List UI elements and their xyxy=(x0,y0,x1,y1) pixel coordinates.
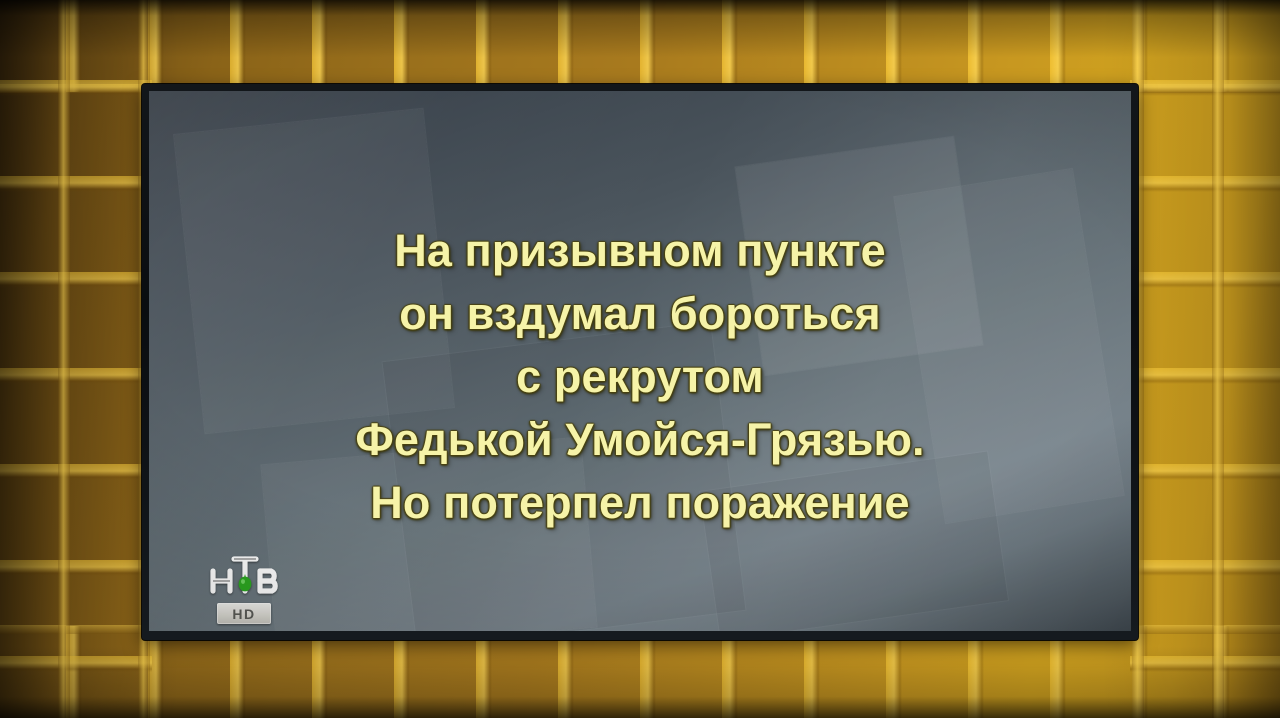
screenshot-root: На призывном пункте он вздумал бороться … xyxy=(0,0,1280,718)
glass-reflection-pane-6 xyxy=(261,437,596,631)
glass-reflection-pane-5 xyxy=(700,452,1008,631)
ntv-logo-icon xyxy=(203,551,287,607)
ntv-hd-logo: HD xyxy=(203,551,287,631)
hd-badge: HD xyxy=(217,603,271,624)
tv-screen: На призывном пункте он вздумал бороться … xyxy=(149,91,1131,631)
television: На призывном пункте он вздумал бороться … xyxy=(142,84,1138,640)
hd-badge-label: HD xyxy=(232,607,255,621)
